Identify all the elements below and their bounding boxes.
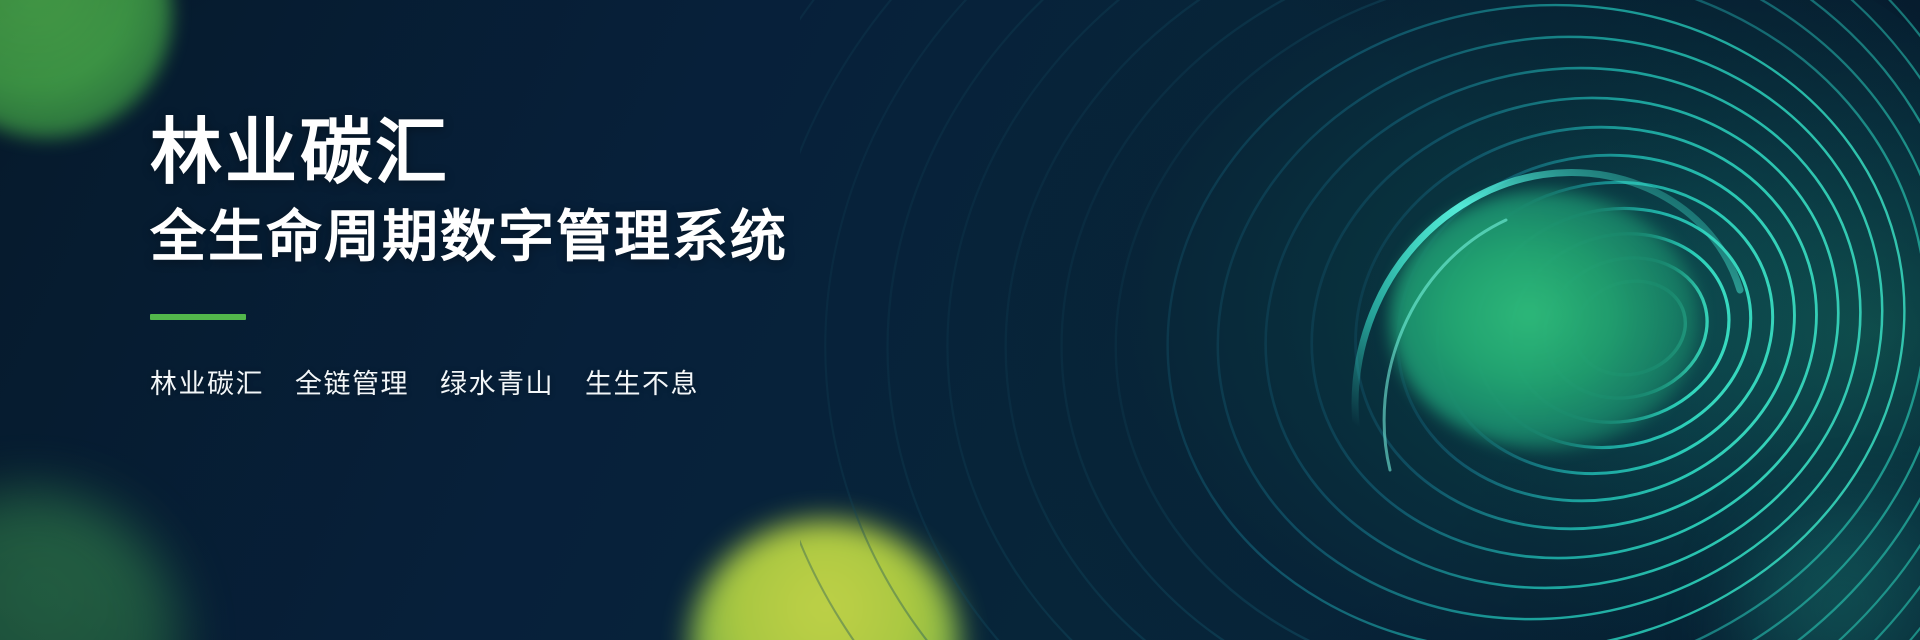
hero-banner: 林业碳汇 全生命周期数字管理系统 林业碳汇 全链管理 绿水青山 生生不息 [0, 0, 1920, 640]
tagline-word: 绿水青山 [440, 369, 554, 399]
tagline-word: 全链管理 [295, 369, 409, 399]
tagline-word: 林业碳汇 [150, 369, 264, 399]
hero-content: 林业碳汇 全生命周期数字管理系统 林业碳汇 全链管理 绿水青山 生生不息 [150, 116, 788, 401]
tagline: 林业碳汇 全链管理 绿水青山 生生不息 [150, 362, 788, 401]
page-title: 林业碳汇 [150, 116, 788, 192]
accent-divider [150, 314, 246, 320]
vortex-core-glow [1390, 190, 1700, 450]
tagline-word: 生生不息 [585, 369, 699, 399]
page-subtitle: 全生命周期数字管理系统 [150, 206, 788, 269]
